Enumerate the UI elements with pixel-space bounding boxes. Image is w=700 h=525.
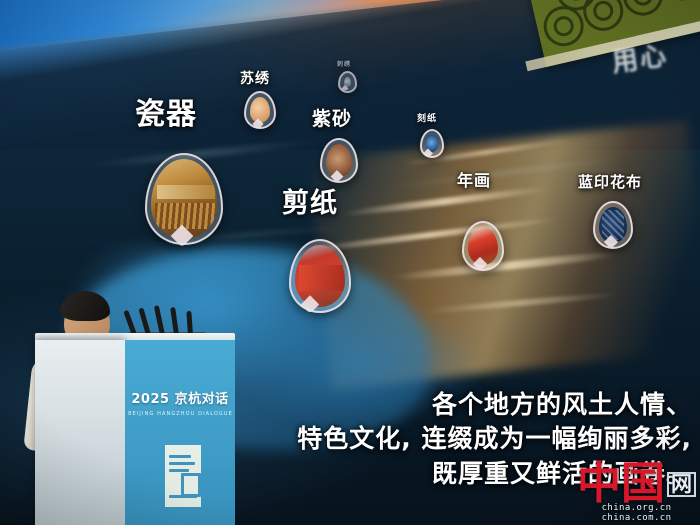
- watermark: 中 国 网 china.org.cn china.com.cn: [577, 465, 696, 523]
- logo-wave-stroke: [169, 495, 197, 498]
- watermark-logo: 中 国 网: [577, 465, 696, 502]
- logo-wave-stroke: [169, 455, 191, 458]
- podium-title: 2025 京杭对话: [130, 388, 230, 407]
- podium-right-panel: 2025 京杭对话 BEIJING HANGZHOU DIALOGUE: [125, 340, 235, 525]
- spiral-motif-icon: [619, 0, 667, 20]
- spiral-motif-icon: [658, 0, 700, 4]
- pin-small-faint: [338, 71, 357, 93]
- watermark-guo: 国: [621, 465, 663, 502]
- pin-photo-su-embroidery: [250, 97, 270, 123]
- map-pin-label: 苏绣: [240, 72, 270, 86]
- map-pin-label: 蓝印花布: [578, 175, 642, 190]
- map-pin-label: 剪纸: [282, 190, 338, 217]
- map-pin-label: 瓷器: [135, 100, 197, 130]
- pin-photo-paper-cut: [295, 245, 345, 307]
- podium-subtitle: BEIJING HANGZHOU DIALOGUE: [128, 411, 233, 417]
- caption-line-2: 特色文化, 连缀成为一幅绚丽多彩,: [297, 422, 692, 457]
- logo-wave-stroke: [169, 469, 189, 472]
- logo-wave-stroke: [181, 473, 201, 497]
- screenshot-root: 用心 瓷器 苏绣 刺绣: [0, 0, 700, 525]
- podium-left-panel: [35, 340, 125, 525]
- map-pin-label: 年画: [457, 173, 491, 189]
- map-pin-label: 刻纸: [417, 115, 437, 124]
- hangzhou-wave-logo: [165, 445, 201, 507]
- logo-wave-stroke: [169, 462, 195, 465]
- map-pin-label: 紫砂: [312, 110, 352, 129]
- microphone-icon: [186, 311, 193, 335]
- map-pin-label: 刺绣: [337, 62, 351, 68]
- watermark-zhong: 中: [577, 465, 619, 502]
- podium-area: 2025 京杭对话 BEIJING HANGZHOU DIALOGUE: [0, 225, 300, 525]
- caption-line-1: 各个地方的风土人情、: [297, 388, 692, 423]
- watermark-url-secondary: china.com.cn: [577, 513, 696, 523]
- watermark-wang: 网: [667, 472, 696, 497]
- speaker-hair: [60, 291, 110, 321]
